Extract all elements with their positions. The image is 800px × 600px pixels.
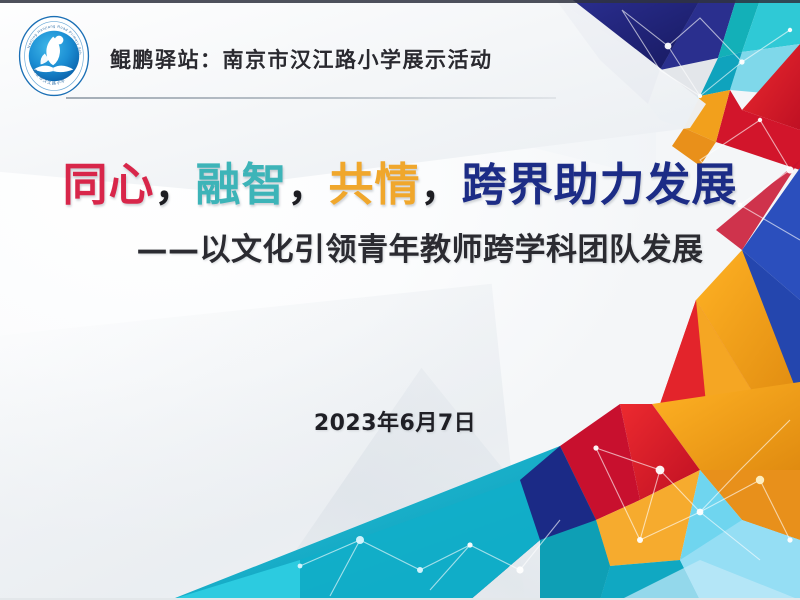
presentation-title-slide: Nanjing Hanjiang Road Primary School 南京市…: [0, 0, 800, 600]
header-title: 鲲鹏驿站：南京市汉江路小学展示活动: [110, 38, 493, 74]
slide-header: Nanjing Hanjiang Road Primary School 南京市…: [12, 14, 493, 98]
title-segment-0: 同心: [62, 158, 154, 211]
slide-top-border: [0, 0, 800, 3]
main-title: 同心，融智，共情，跨界助力发展: [0, 160, 800, 210]
title-segment-2: 融智: [195, 158, 287, 211]
title-segment-6: 跨界助力发展: [462, 158, 738, 211]
title-block: 同心，融智，共情，跨界助力发展 ——以文化引领青年教师跨学科团队发展: [0, 160, 800, 269]
school-emblem-icon: Nanjing Hanjiang Road Primary School 南京市…: [12, 14, 96, 98]
school-emblem-logo: Nanjing Hanjiang Road Primary School 南京市…: [12, 14, 96, 98]
title-segment-3: ，: [288, 164, 329, 210]
slide-date: 2023年6月7日: [0, 405, 800, 437]
title-segment-5: ，: [421, 164, 462, 210]
subtitle: ——以文化引领青年教师跨学科团队发展: [0, 224, 800, 269]
title-segment-4: 共情: [329, 158, 421, 211]
title-segment-1: ，: [154, 164, 195, 210]
